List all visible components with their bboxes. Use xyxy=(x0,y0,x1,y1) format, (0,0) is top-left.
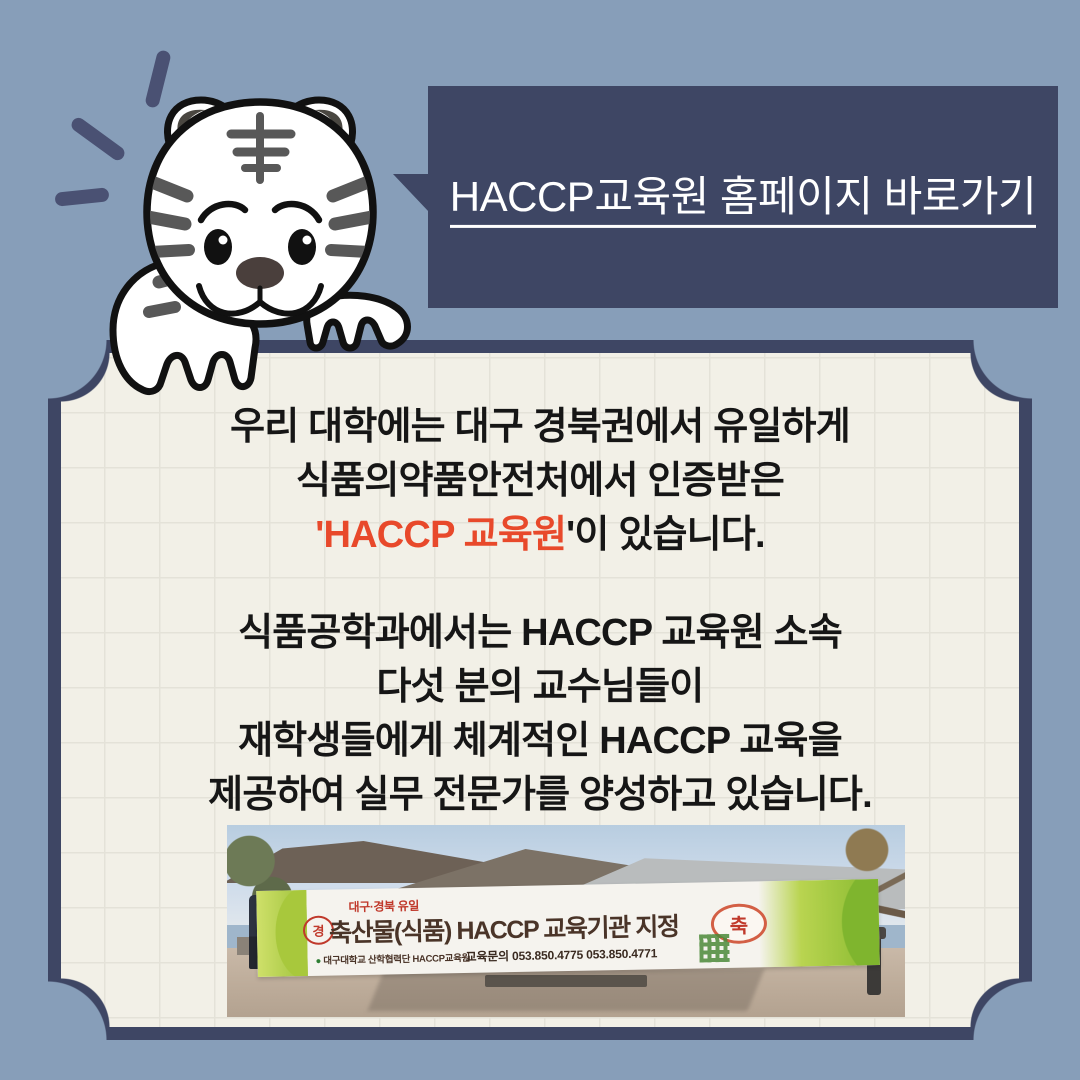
white-tiger-mascot xyxy=(55,30,455,430)
detail-line-1: 식품공학과에서는 HACCP 교육원 소속 xyxy=(61,607,1019,661)
detail-line-3: 재학생들에게 체계적인 HACCP 교육을 xyxy=(61,715,1019,769)
detail-line-2: 다섯 분의 교수님들이 xyxy=(61,661,1019,715)
cloth-org: ● 대구대학교 산학협력단 HACCP교육원 xyxy=(315,950,470,967)
intro-line-3-tail: '이 있습니다. xyxy=(566,514,765,556)
banner-box: HACCP교육원 홈페이지 바로가기 xyxy=(428,86,1058,308)
detail-line-4: 제공하여 실무 전문가를 양성하고 있습니다. xyxy=(61,769,1019,823)
card-surface: 우리 대학에는 대구 경북권에서 유일하게 식품의약품안전처에서 인증받은 'H… xyxy=(61,353,1019,1027)
intro-line-3: 'HACCP 교육원'이 있습니다. xyxy=(61,509,1019,563)
photo-cloth-banner: 대구·경북 유일 경 축산물(식품) HACCP 교육기관 지정 축 ● 대구대… xyxy=(256,879,880,977)
cloth-contact: 교육문의 053.850.4775 053.850.4771 xyxy=(465,944,657,965)
paragraph-detail: 식품공학과에서는 HACCP 교육원 소속 다섯 분의 교수님들이 재학생들에게… xyxy=(61,607,1019,823)
cloth-green-right xyxy=(758,879,880,967)
info-card: 우리 대학에는 대구 경북권에서 유일하게 식품의약품안전처에서 인증받은 'H… xyxy=(48,340,1032,1040)
qr-code-icon xyxy=(699,934,730,963)
cloth-org-text: 대구대학교 산학협력단 HACCP교육원 xyxy=(323,953,470,967)
haccp-center-highlight: HACCP 교육원 xyxy=(324,514,567,556)
quote-open: ' xyxy=(315,514,323,556)
cloth-green-left xyxy=(256,890,308,977)
banner-link-label[interactable]: HACCP교육원 홈페이지 바로가기 xyxy=(450,173,1036,228)
photo-banner-stand xyxy=(485,975,648,987)
banner-title-row: HACCP교육원 홈페이지 바로가기 xyxy=(428,174,1058,220)
poster-canvas: HACCP교육원 홈페이지 바로가기 우리 대학에는 대구 경북권에서 유일하게… xyxy=(0,0,1080,1080)
cloth-bullet-icon: ● xyxy=(315,956,321,967)
cloth-headline: 축산물(식품) HACCP 교육기관 지정 xyxy=(329,907,679,950)
haccp-banner-photo: 대구·경북 유일 경 축산물(식품) HACCP 교육기관 지정 축 ● 대구대… xyxy=(227,825,905,1017)
homepage-link-banner[interactable]: HACCP교육원 홈페이지 바로가기 xyxy=(428,86,1058,308)
intro-line-2: 식품의약품안전처에서 인증받은 xyxy=(61,455,1019,509)
tiger-illustration xyxy=(55,30,455,430)
